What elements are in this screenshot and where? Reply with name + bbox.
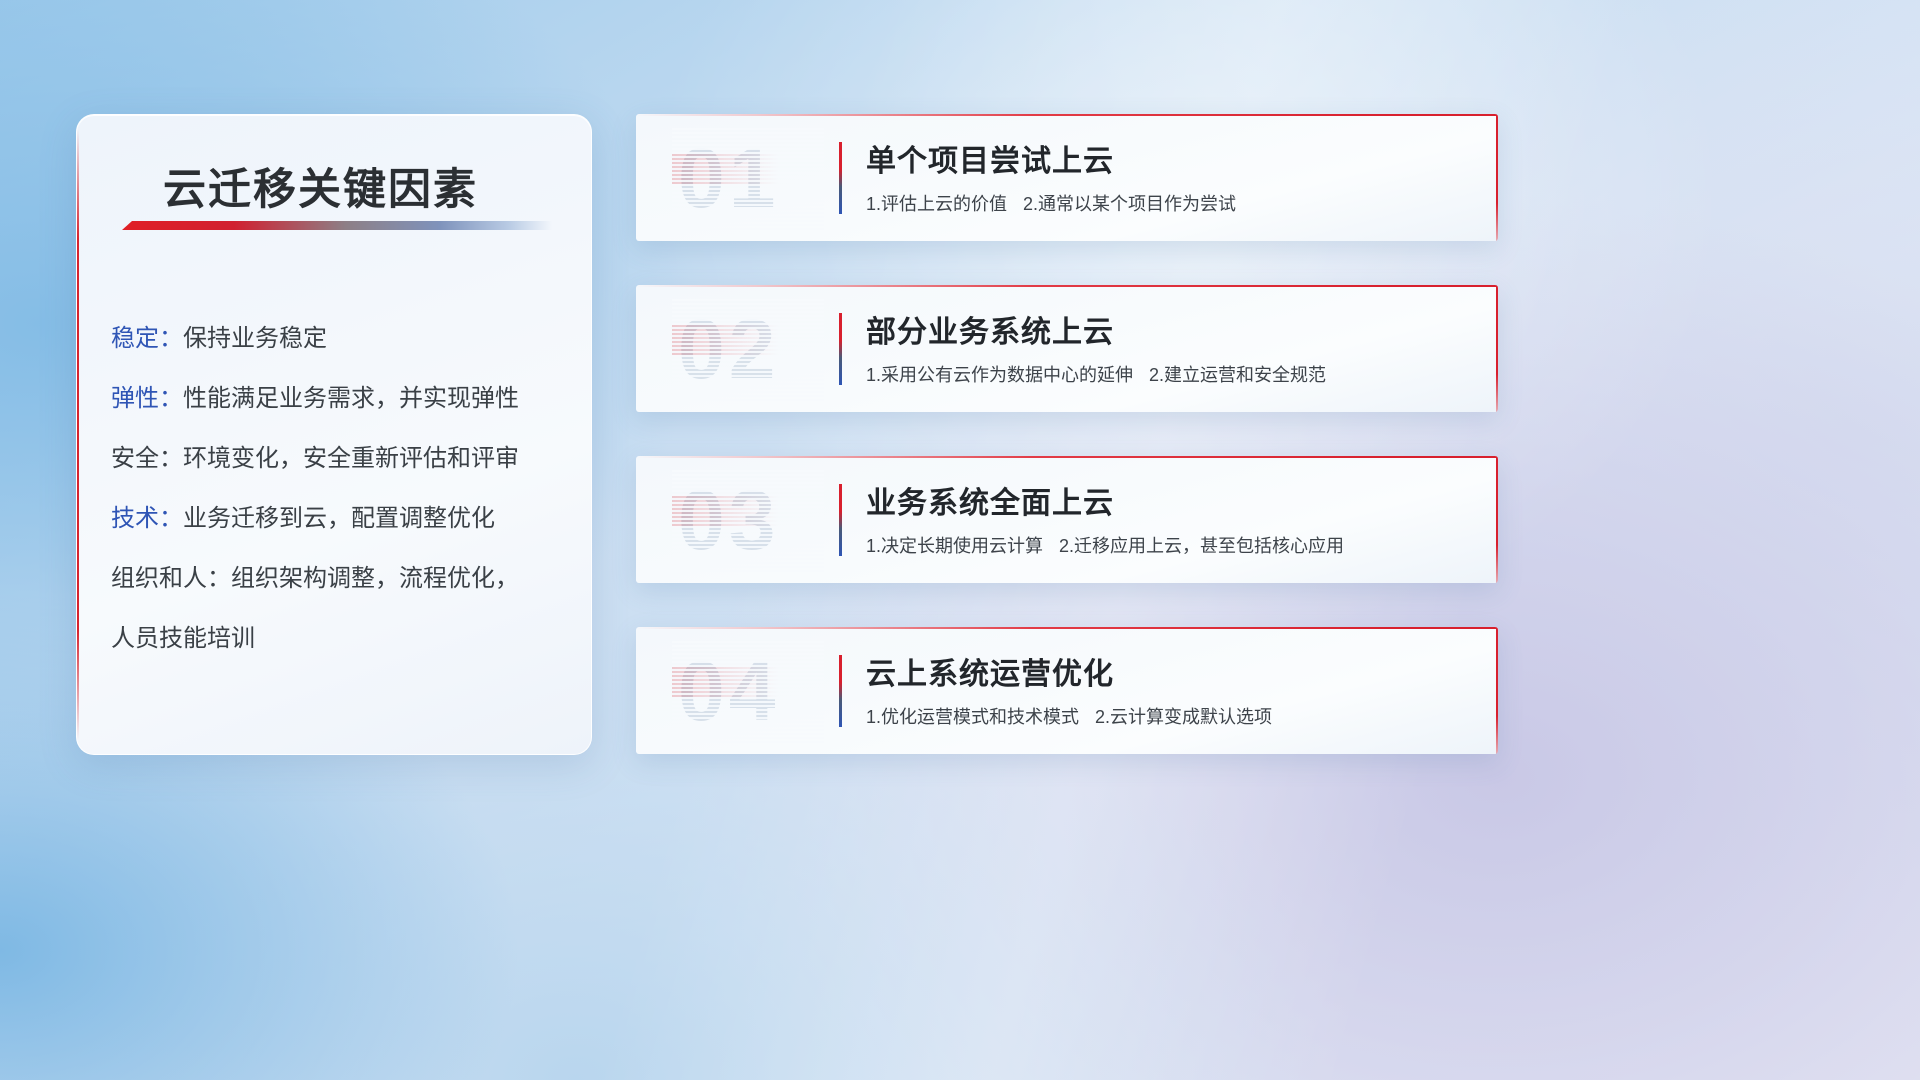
step-desc-item-2: 2.通常以某个项目作为尝试 xyxy=(1023,194,1236,214)
list-item: 弹性：性能满足业务需求，并实现弹性 xyxy=(111,369,567,429)
factor-list: 稳定：保持业务稳定 弹性：性能满足业务需求，并实现弹性 安全：环境变化，安全重新… xyxy=(111,309,567,669)
step-title: 云上系统运营优化 xyxy=(866,649,1114,693)
list-item: 人员技能培训 xyxy=(111,609,567,669)
factor-key: 弹性： xyxy=(111,385,183,412)
list-item: 技术：业务迁移到云，配置调整优化 xyxy=(111,489,567,549)
factor-key: 安全： xyxy=(111,445,183,472)
step-desc-item-1: 1.决定长期使用云计算 xyxy=(866,536,1043,556)
step-card[interactable]: 02 部分业务系统上云 1.采用公有云作为数据中心的延伸2.建立运营和安全规范 xyxy=(636,285,1498,412)
factor-text: 环境变化，安全重新评估和评审 xyxy=(183,445,519,472)
factor-text: 组织架构调整，流程优化， xyxy=(231,565,519,592)
factor-text: 人员技能培训 xyxy=(111,625,255,652)
step-description: 1.采用公有云作为数据中心的延伸2.建立运营和安全规范 xyxy=(866,361,1326,387)
step-divider-bar xyxy=(839,313,842,385)
step-card[interactable]: 01 单个项目尝试上云 1.评估上云的价值2.通常以某个项目作为尝试 xyxy=(636,114,1498,241)
list-item: 稳定：保持业务稳定 xyxy=(111,309,567,369)
step-number: 03 xyxy=(678,472,816,568)
step-desc-item-2: 2.迁移应用上云，甚至包括核心应用 xyxy=(1059,536,1344,556)
step-title: 业务系统全面上云 xyxy=(866,478,1114,522)
step-description: 1.优化运营模式和技术模式2.云计算变成默认选项 xyxy=(866,703,1272,729)
step-description: 1.决定长期使用云计算2.迁移应用上云，甚至包括核心应用 xyxy=(866,532,1344,558)
page-title: 云迁移关键因素 xyxy=(163,155,478,217)
step-title: 部分业务系统上云 xyxy=(866,307,1114,351)
factor-key: 稳定： xyxy=(111,325,183,352)
step-description: 1.评估上云的价值2.通常以某个项目作为尝试 xyxy=(866,190,1236,216)
step-number: 02 xyxy=(678,301,816,397)
factor-text: 保持业务稳定 xyxy=(183,325,327,352)
step-title: 单个项目尝试上云 xyxy=(866,136,1114,180)
factor-key: 技术： xyxy=(111,505,183,532)
step-card[interactable]: 03 业务系统全面上云 1.决定长期使用云计算2.迁移应用上云，甚至包括核心应用 xyxy=(636,456,1498,583)
title-underline-gradient xyxy=(122,221,552,230)
step-desc-item-1: 1.评估上云的价值 xyxy=(866,194,1007,214)
step-number: 04 xyxy=(678,643,816,739)
factor-key: 组织和人： xyxy=(111,565,231,592)
step-divider-bar xyxy=(839,655,842,727)
step-desc-item-2: 2.云计算变成默认选项 xyxy=(1095,707,1272,727)
factor-text: 性能满足业务需求，并实现弹性 xyxy=(183,385,519,412)
factor-text: 业务迁移到云，配置调整优化 xyxy=(183,505,495,532)
key-factors-card: 云迁移关键因素 稳定：保持业务稳定 弹性：性能满足业务需求，并实现弹性 安全：环… xyxy=(76,114,592,755)
step-divider-bar xyxy=(839,484,842,556)
step-desc-item-2: 2.建立运营和安全规范 xyxy=(1149,365,1326,385)
step-card[interactable]: 04 云上系统运营优化 1.优化运营模式和技术模式2.云计算变成默认选项 xyxy=(636,627,1498,754)
list-item: 组织和人：组织架构调整，流程优化， xyxy=(111,549,567,609)
migration-steps-list: 01 单个项目尝试上云 1.评估上云的价值2.通常以某个项目作为尝试 02 部分… xyxy=(636,114,1498,754)
step-divider-bar xyxy=(839,142,842,214)
list-item: 安全：环境变化，安全重新评估和评审 xyxy=(111,429,567,489)
step-desc-item-1: 1.优化运营模式和技术模式 xyxy=(866,707,1079,727)
step-number: 01 xyxy=(678,130,816,226)
step-desc-item-1: 1.采用公有云作为数据中心的延伸 xyxy=(866,365,1133,385)
